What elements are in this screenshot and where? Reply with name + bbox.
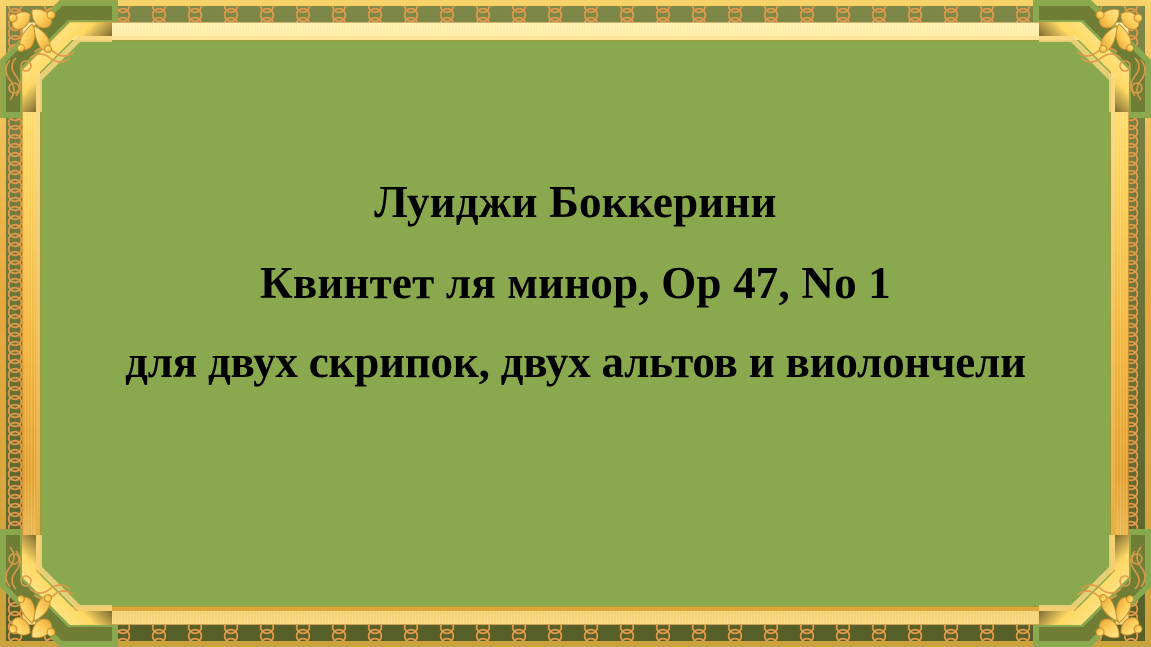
slide-text-block: Луиджи Боккерини Квинтет ля минор, Op 47… <box>46 46 1105 601</box>
work-title: Квинтет ля минор, Op 47, No 1 <box>260 261 891 306</box>
instrumentation-text: для двух скрипок, двух альтов и виолонче… <box>125 340 1026 385</box>
title-slide: Луиджи Боккерини Квинтет ля минор, Op 47… <box>0 0 1151 647</box>
composer-name: Луиджи Боккерини <box>374 180 776 225</box>
